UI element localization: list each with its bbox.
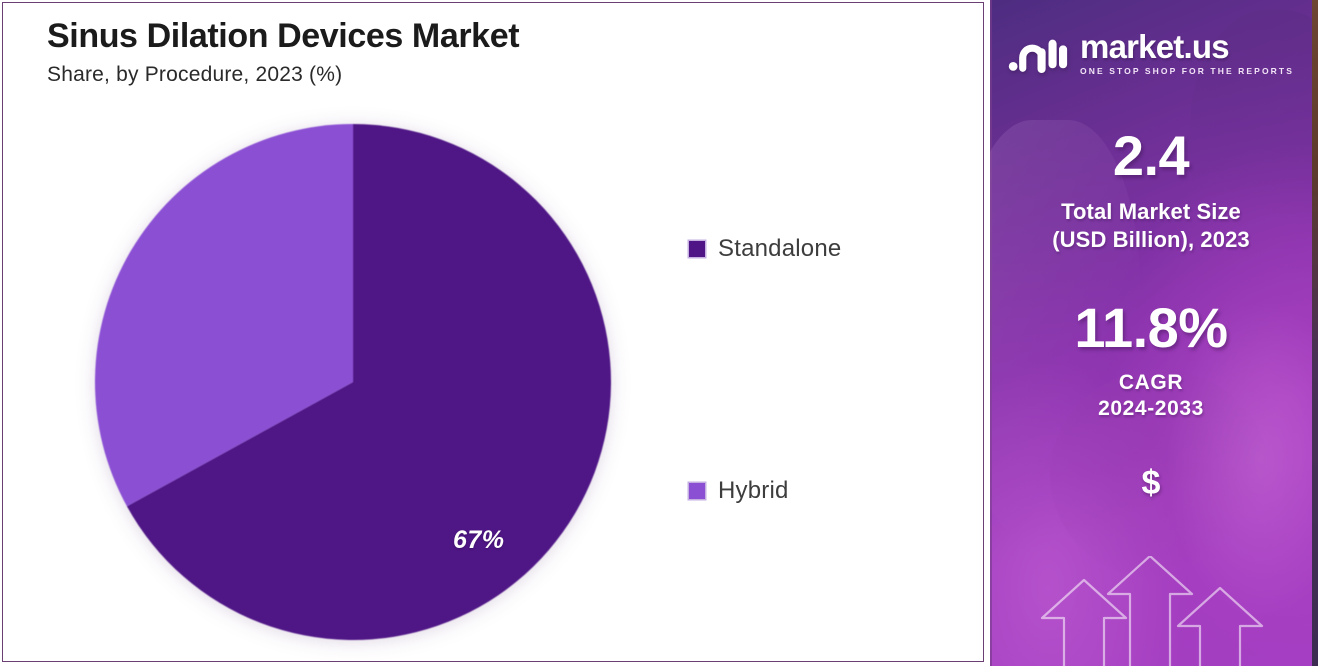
legend-item-standalone[interactable]: Standalone bbox=[689, 235, 949, 263]
stat-caption-cagr: CAGR 2024-2033 bbox=[990, 370, 1312, 423]
stat-value-market-size: 2.4 bbox=[990, 128, 1312, 184]
bar-chart-logo-icon bbox=[1008, 32, 1068, 74]
title-block: Sinus Dilation Devices Market Share, by … bbox=[47, 17, 747, 87]
legend-label-hybrid: Hybrid bbox=[718, 477, 789, 505]
stat-total-market-size: 2.4 Total Market Size (USD Billion), 202… bbox=[990, 128, 1312, 253]
stat-caption-line-1: CAGR bbox=[990, 370, 1312, 396]
page-subtitle: Share, by Procedure, 2023 (%) bbox=[47, 63, 747, 87]
legend-item-hybrid[interactable]: Hybrid bbox=[689, 477, 949, 505]
legend-swatch-hybrid bbox=[689, 483, 705, 499]
pie-chart-svg bbox=[91, 120, 615, 644]
stat-caption-market-size: Total Market Size (USD Billion), 2023 bbox=[990, 198, 1312, 253]
stat-value-cagr: 11.8% bbox=[990, 300, 1312, 356]
growth-arrows-icon bbox=[1012, 556, 1292, 666]
brand-sidebar: market.us ONE STOP SHOP FOR THE REPORTS … bbox=[990, 0, 1312, 666]
stat-caption-line-1: Total Market Size bbox=[990, 198, 1312, 226]
right-edge-strip bbox=[1312, 0, 1318, 666]
screenshot-root: Sinus Dilation Devices Market Share, by … bbox=[0, 0, 1318, 666]
dollar-sign-icon: $ bbox=[990, 466, 1312, 500]
stat-caption-line-2: 2024-2033 bbox=[990, 396, 1312, 422]
legend-swatch-standalone bbox=[689, 241, 705, 257]
pie-slice-label-standalone: 67% bbox=[453, 526, 505, 555]
stat-cagr: 11.8% CAGR 2024-2033 bbox=[990, 300, 1312, 423]
legend-label-standalone: Standalone bbox=[718, 235, 841, 263]
logo-text-block: market.us ONE STOP SHOP FOR THE REPORTS bbox=[1080, 30, 1294, 76]
pie-chart: 67% bbox=[91, 120, 615, 644]
logo-tagline: ONE STOP SHOP FOR THE REPORTS bbox=[1080, 67, 1294, 76]
stat-caption-line-2: (USD Billion), 2023 bbox=[990, 226, 1312, 254]
page-title: Sinus Dilation Devices Market bbox=[47, 17, 747, 55]
chart-legend: Standalone Hybrid bbox=[689, 235, 949, 505]
chart-panel: Sinus Dilation Devices Market Share, by … bbox=[2, 2, 984, 662]
logo-wordmark: market.us bbox=[1080, 30, 1229, 63]
brand-logo[interactable]: market.us ONE STOP SHOP FOR THE REPORTS bbox=[990, 30, 1312, 76]
